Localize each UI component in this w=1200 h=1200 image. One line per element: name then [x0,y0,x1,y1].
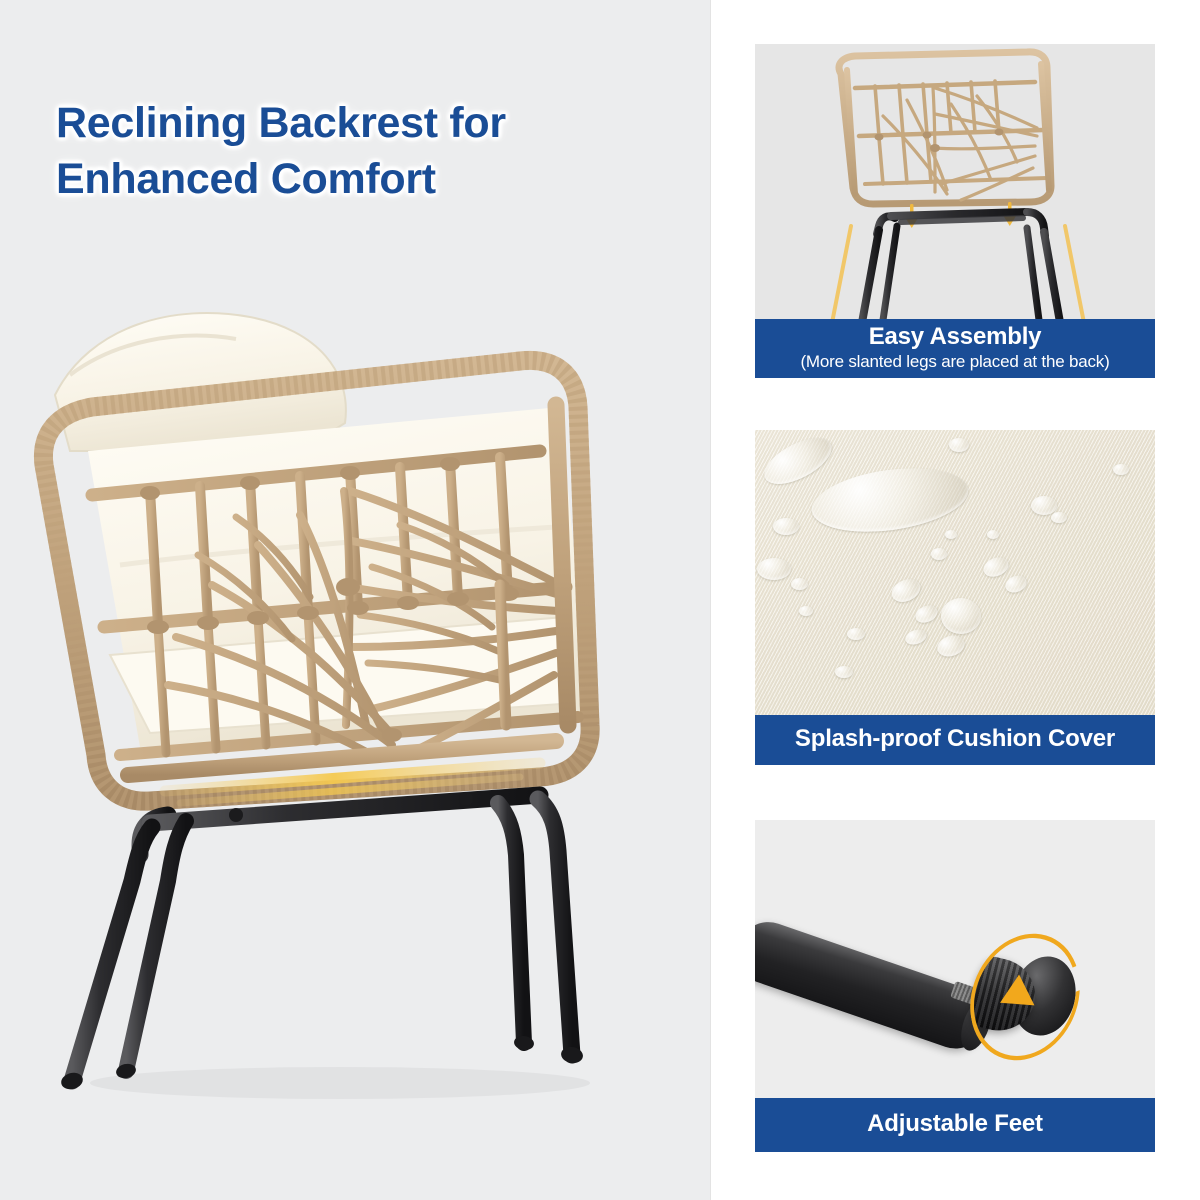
feature-image-splash-proof [755,430,1155,715]
hero-product-image [0,255,710,1135]
feature-title: Splash-proof Cushion Cover [759,725,1151,753]
feature-card-column: Easy Assembly (More slanted legs are pla… [755,0,1155,1200]
column-divider [710,0,711,1200]
page-title-line-1: Reclining Backrest for [56,96,676,152]
page-title: Reclining Backrest for Enhanced Comfort [56,96,676,208]
feature-caption-adjustable-feet: Adjustable Feet [755,1098,1155,1152]
feature-title: Easy Assembly [759,323,1151,351]
feature-card-adjustable-feet[interactable]: Adjustable Feet [755,820,1155,1152]
page-title-line-2: Enhanced Comfort [56,152,676,208]
metal-leg-module [861,212,1061,319]
feature-subtitle: (More slanted legs are placed at the bac… [759,352,1151,372]
feature-card-splash-proof[interactable]: Splash-proof Cushion Cover [755,430,1155,765]
feature-caption-splash-proof: Splash-proof Cushion Cover [755,715,1155,765]
feature-card-easy-assembly[interactable]: Easy Assembly (More slanted legs are pla… [755,44,1155,378]
feature-title: Adjustable Feet [759,1110,1151,1138]
fabric-texture [755,430,1155,715]
wicker-seat-module [839,52,1051,204]
product-feature-infographic: Reclining Backrest for Enhanced Comfort [0,0,1200,1200]
feature-image-adjustable-feet [755,820,1155,1098]
feature-image-easy-assembly [755,44,1155,319]
feature-caption-easy-assembly: Easy Assembly (More slanted legs are pla… [755,319,1155,378]
leg-front-right [538,799,572,1055]
leg-back-right [498,803,524,1043]
hero-panel: Reclining Backrest for Enhanced Comfort [0,0,710,1200]
